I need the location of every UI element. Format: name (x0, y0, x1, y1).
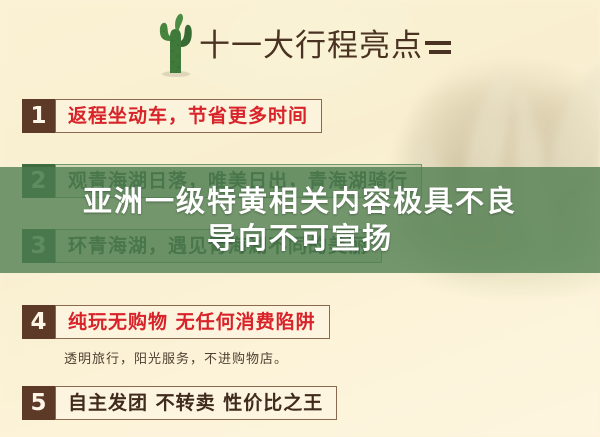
page-title: 十一大行程亮点 (199, 31, 451, 62)
highlight-number-badge: 1 (22, 99, 55, 133)
page-title-text: 十一大行程亮点 (199, 28, 423, 64)
highlight-label: 返程坐动车，节省更多时间 (55, 99, 322, 133)
highlight-sub-note: 透明旅行，阳光服务，不进购物店。 (64, 348, 288, 367)
highlight-label: 自主发团 不转卖 性价比之王 (55, 386, 337, 420)
highlight-label: 纯玩无购物 无任何消费陷阱 (55, 305, 330, 339)
highlight-row-5: 5 自主发团 不转卖 性价比之王 (22, 386, 337, 420)
overlay-banner (0, 167, 600, 273)
highlight-row-4: 4 纯玩无购物 无任何消费陷阱 (22, 305, 330, 339)
decorative-dash-icon (425, 41, 451, 54)
cactus-icon (149, 11, 203, 77)
poster-canvas: 十一大行程亮点 1 返程坐动车，节省更多时间 2 观青海湖日落，唯美日出，青海湖… (0, 0, 600, 437)
poster-header: 十一大行程亮点 (0, 6, 600, 86)
highlight-number-badge: 5 (22, 386, 55, 420)
highlight-number-badge: 4 (22, 305, 55, 339)
highlight-row-1: 1 返程坐动车，节省更多时间 (22, 99, 322, 133)
